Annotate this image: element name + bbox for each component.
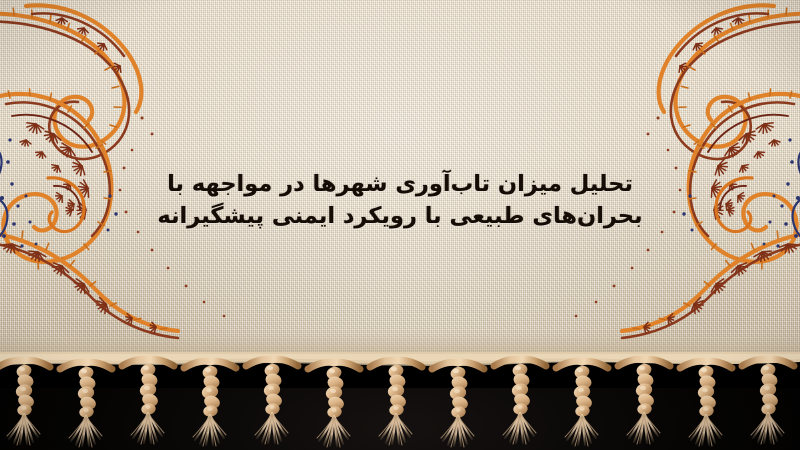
embroidered-cloth bbox=[0, 0, 800, 374]
title-card-canvas: .o { fill:none; stroke:#e0822a; stroke-w… bbox=[0, 0, 800, 450]
